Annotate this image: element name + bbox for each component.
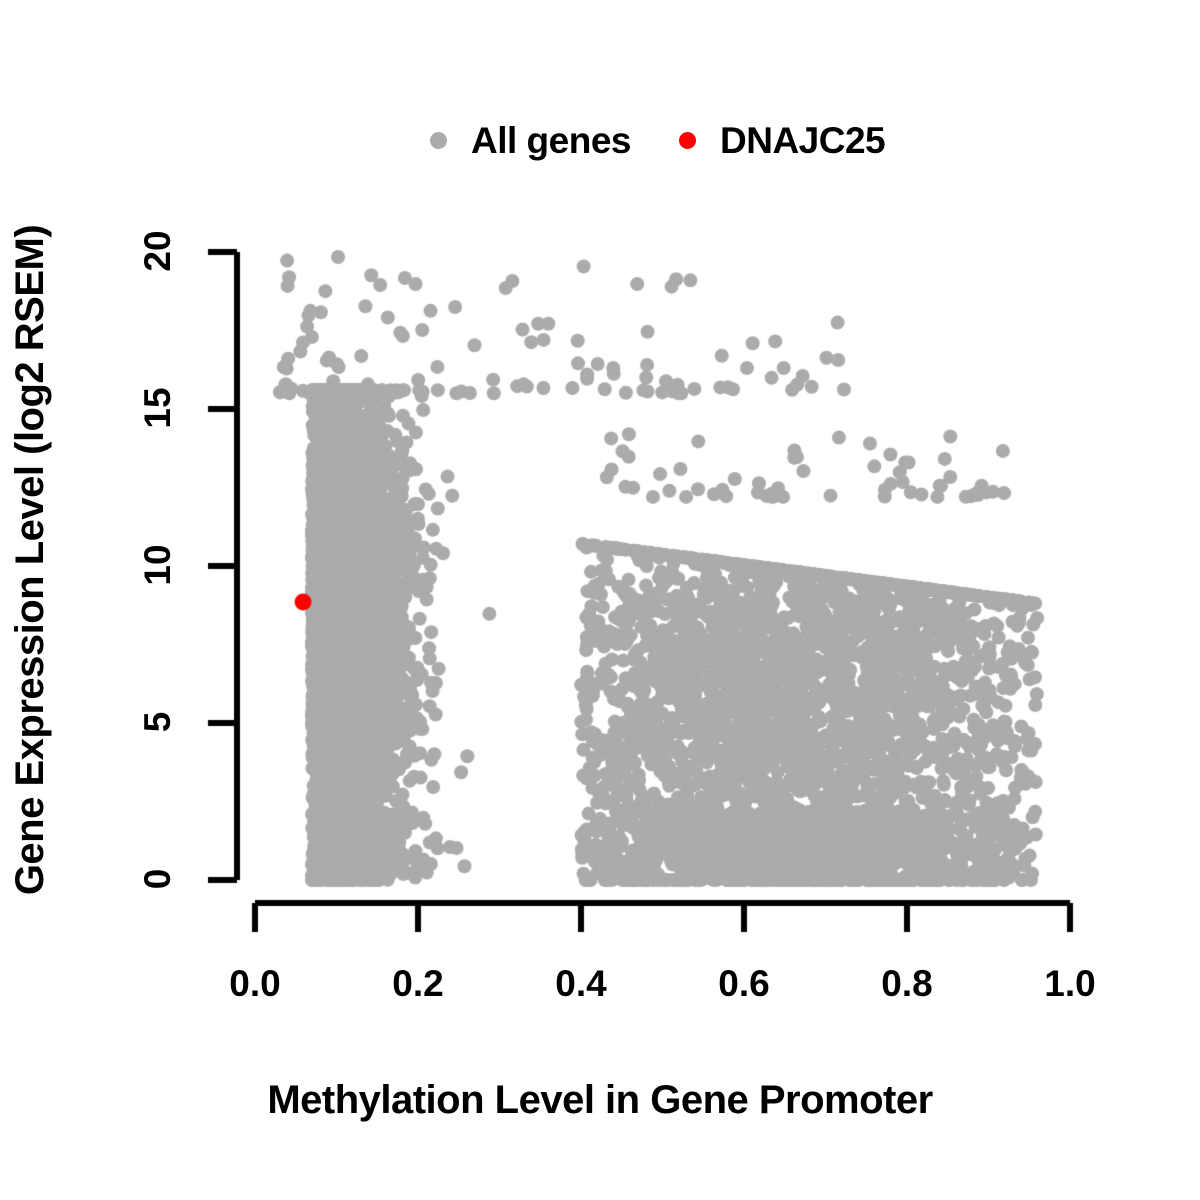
y-tick-label-20: 20 xyxy=(137,211,179,291)
scatter-plot-figure: All genes DNAJC25 Methylation Level in G… xyxy=(0,0,1200,1200)
gray-dot-marker-icon xyxy=(430,132,447,149)
y-tick-label-0: 0 xyxy=(137,839,179,919)
y-axis-title: Gene Expression Level (log2 RSEM) xyxy=(8,140,64,980)
legend-item-dnajc25: DNAJC25 xyxy=(679,122,885,159)
legend-label-dnajc25: DNAJC25 xyxy=(720,122,885,159)
x-tick-label-0.4: 0.4 xyxy=(555,963,606,1005)
y-tick-label-10: 10 xyxy=(137,525,179,605)
x-tick-label-0.6: 0.6 xyxy=(718,963,769,1005)
x-tick-label-0.2: 0.2 xyxy=(392,963,443,1005)
x-tick-label-0.0: 0.0 xyxy=(229,963,280,1005)
x-tick-label-1.0: 1.0 xyxy=(1044,963,1095,1005)
y-tick-label-5: 5 xyxy=(137,682,179,762)
chart-legend: All genes DNAJC25 xyxy=(430,113,885,167)
legend-item-all-genes: All genes xyxy=(430,122,631,159)
x-axis-title: Methylation Level in Gene Promoter xyxy=(0,1078,1200,1123)
y-tick-label-15: 15 xyxy=(137,368,179,448)
red-dot-marker-icon xyxy=(679,132,696,149)
legend-label-all-genes: All genes xyxy=(471,122,631,159)
scatter-plot-canvas xyxy=(0,0,1200,1200)
x-tick-label-0.8: 0.8 xyxy=(881,963,932,1005)
